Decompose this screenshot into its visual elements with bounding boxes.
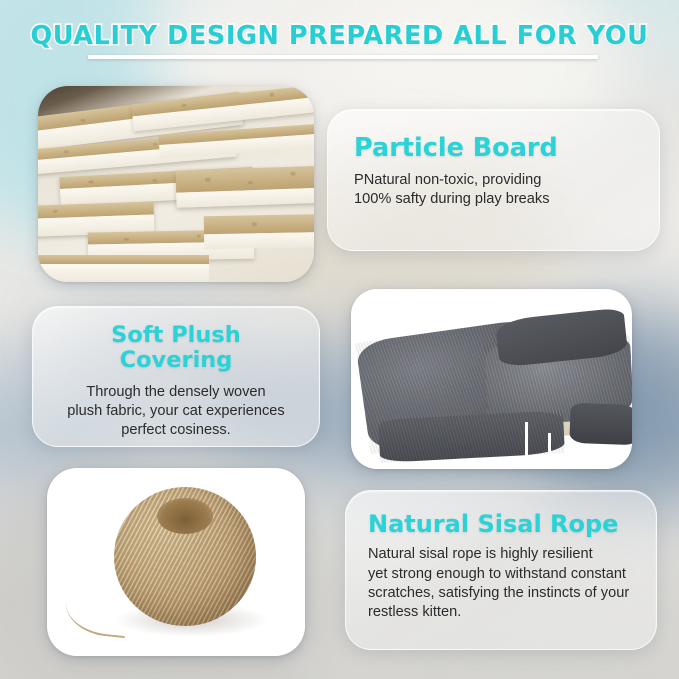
plank-speck (248, 181, 253, 184)
particle-board-plank (38, 255, 209, 282)
plank-speck (64, 150, 69, 153)
particle-board-plank (203, 214, 314, 250)
plank-speck (124, 237, 129, 240)
plank-edge (203, 214, 314, 235)
feature-card-particle-board: Particle Board PNatural non-toxic, provi… (327, 109, 660, 251)
sisal-artwork (47, 468, 305, 656)
plank-speck (181, 104, 186, 108)
feature-body-particle-board: PNatural non-toxic, providing 100% safty… (354, 171, 633, 210)
infographic-canvas: QUALITY DESIGN PREPARED ALL FOR YOU (0, 0, 679, 679)
plank-speck (89, 180, 94, 183)
feature-card-soft-plush: Soft Plush Covering Through the densely … (32, 306, 320, 447)
plush-seam-gap (525, 422, 528, 462)
photo-sisal-rope (47, 468, 305, 656)
plush-seam-gap (548, 433, 551, 469)
plank-speck (53, 210, 58, 213)
page-title: QUALITY DESIGN PREPARED ALL FOR YOU (0, 22, 679, 50)
sisal-ball (114, 487, 256, 626)
plank-speck (204, 177, 210, 181)
feature-body-sisal-rope: Natural sisal rope is highly resilient y… (368, 545, 636, 622)
photo-particle-board (38, 86, 314, 282)
plank-face (204, 232, 314, 249)
header-underline (88, 55, 598, 59)
feature-card-sisal-rope: Natural Sisal Rope Natural sisal rope is… (345, 490, 657, 650)
feature-heading-soft-plush: Soft Plush Covering (55, 323, 297, 373)
particle-board-plank (175, 166, 314, 209)
header: QUALITY DESIGN PREPARED ALL FOR YOU (0, 22, 679, 50)
plush-artwork (351, 289, 632, 469)
feature-heading-particle-board: Particle Board (354, 134, 633, 162)
particle-board-artwork (38, 86, 314, 282)
plank-speck (80, 118, 85, 122)
plank-speck (252, 223, 257, 227)
plank-speck (154, 142, 158, 145)
plank-speck (197, 235, 201, 238)
plush-right-edge (570, 403, 632, 445)
plank-face (38, 264, 209, 282)
feature-heading-sisal-rope: Natural Sisal Rope (368, 511, 636, 537)
feature-body-soft-plush: Through the densely woven plush fabric, … (55, 383, 297, 441)
sisal-center-hole (157, 498, 214, 534)
plank-edge (38, 255, 209, 265)
plank-speck (270, 93, 274, 97)
plank-speck (291, 172, 296, 176)
photo-soft-plush (351, 289, 632, 469)
plank-speck (152, 179, 156, 182)
